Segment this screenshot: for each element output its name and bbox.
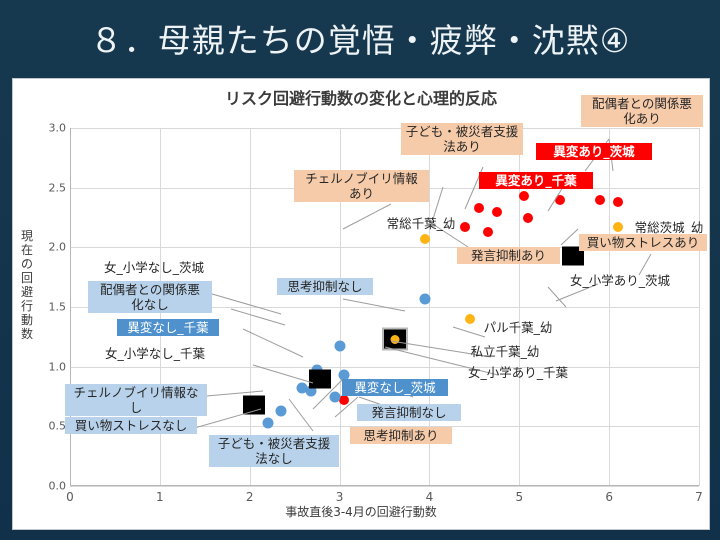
y-axis-ticks: 0.00.51.01.52.02.53.0 (23, 128, 66, 486)
x-tick-label: 3 (320, 490, 360, 504)
annotation-配偶者との関係悪化あり: 配偶者との関係悪 化あり (581, 95, 703, 127)
y-tick-label: 1.5 (26, 301, 66, 314)
annotation-思考抑制あり: 思考抑制あり (350, 427, 452, 444)
annotation-常総千葉幼: 常総千葉_幼 (369, 215, 473, 232)
annotation-思考抑制なし: 思考抑制なし (277, 278, 373, 295)
x-tick-label: 6 (589, 490, 629, 504)
annotation-異変なし千葉: 異変なし_千葉 (117, 319, 219, 336)
chart-panel: リスク回避行動数の変化と心理的反応 現在の回避行動数 01234567 0.00… (12, 78, 710, 530)
data-point-circle (262, 417, 273, 428)
annotation-パル千葉幼: パル千葉_幼 (469, 319, 567, 336)
data-point-circle (523, 213, 533, 223)
data-point-square (243, 395, 265, 414)
annotation-異変なし茨城: 異変なし_茨城 (342, 379, 448, 396)
data-point-circle (483, 227, 493, 237)
annotation-女小学なし千葉: 女_小学なし_千葉 (95, 345, 215, 362)
y-tick-label: 2.5 (26, 181, 66, 194)
data-point-circle (330, 391, 341, 402)
data-point-circle (419, 293, 430, 304)
x-tick-label: 1 (140, 490, 180, 504)
annotation-買い物ストレスあり: 買い物ストレスあり (579, 234, 707, 251)
annotation-私立千葉幼: 私立千葉_幼 (456, 343, 554, 360)
data-point-circle (474, 203, 484, 213)
data-point-circle (492, 207, 502, 217)
annotation-発言抑制あり: 発言抑制あり (457, 247, 560, 264)
data-point-square (309, 369, 331, 388)
data-point-circle (555, 195, 565, 205)
grid-line-vertical (699, 128, 700, 486)
page-title: ８．母親たちの覚悟・疲弊・沈黙④ (0, 14, 720, 62)
annotation-子ども被災者支援法なし: 子ども・被災者支援 法なし (209, 435, 339, 467)
annotation-女小学あり千葉: 女_小学あり_千葉 (458, 364, 578, 381)
x-axis-title: 事故直後3-4月の回避行動数 (13, 503, 709, 520)
y-tick-label: 1.0 (26, 360, 66, 373)
annotation-女小学なし茨城: 女_小学なし_茨城 (95, 259, 213, 276)
x-tick-label: 4 (409, 490, 449, 504)
y-tick-label: 0.5 (26, 420, 66, 433)
data-point-circle (334, 341, 345, 352)
data-point-circle (595, 195, 605, 205)
annotation-チェルノブイリ情報なし: チェルノブイリ情報なし (65, 384, 207, 416)
y-tick-label: 3.0 (26, 122, 66, 135)
y-tick-label: 2.0 (26, 241, 66, 254)
data-point-circle (519, 191, 529, 201)
axis-line-bottom (70, 485, 699, 486)
annotation-子ども被災者支援法あり: 子ども・被災者支援 法あり (401, 123, 523, 155)
grid-line-horizontal (70, 128, 699, 129)
annotation-異変あり茨城: 異変あり_茨城 (536, 143, 652, 160)
x-tick-label: 7 (679, 490, 710, 504)
grid-line-vertical (250, 128, 251, 486)
data-point-circle (613, 197, 623, 207)
annotation-異変あり千葉: 異変あり_千葉 (479, 172, 593, 189)
annotation-配偶者との関係悪化なし: 配偶者との関係悪 化なし (88, 281, 212, 313)
annotation-買い物ストレスなし: 買い物ストレスなし (65, 417, 197, 434)
data-point-square (384, 330, 406, 349)
x-tick-label: 5 (499, 490, 539, 504)
y-tick-label: 0.0 (26, 480, 66, 493)
annotation-女小学あり茨城: 女_小学あり_茨城 (561, 272, 679, 289)
data-point-circle (276, 405, 287, 416)
x-tick-label: 2 (230, 490, 270, 504)
data-point-square-inner (391, 335, 400, 344)
annotation-発言抑制なし: 発言抑制なし (357, 404, 461, 421)
data-point-circle (420, 234, 430, 244)
annotation-チェルノブイリ情報あり: チェルノブイリ情報 あり (294, 170, 429, 202)
grid-line-horizontal (70, 486, 699, 487)
grid-line-vertical (609, 128, 610, 486)
slide-root: ８．母親たちの覚悟・疲弊・沈黙④ リスク回避行動数の変化と心理的反応 現在の回避… (0, 0, 720, 540)
grid-line-horizontal (70, 367, 699, 368)
